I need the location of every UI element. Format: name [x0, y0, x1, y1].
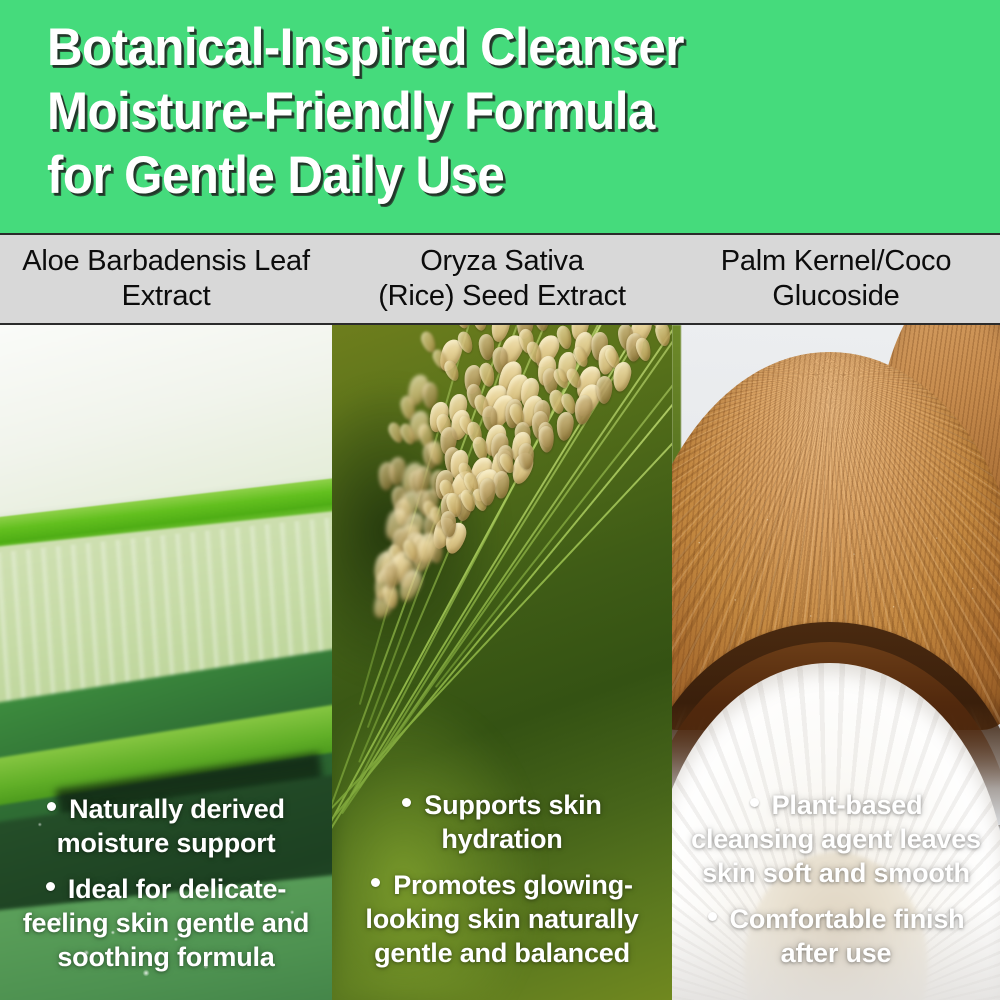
page-title: Botanical-Inspired Cleanser Moisture-Fri…	[47, 16, 903, 208]
bullet-dot-icon	[47, 802, 56, 811]
list-item: Supports skin hydration	[338, 788, 666, 856]
bullet-text: Comfortable finish after use	[730, 904, 965, 968]
column-rice: Supports skin hydration Promotes glowing…	[332, 325, 672, 1000]
bullet-list-aloe: Naturally derived moisture support Ideal…	[0, 792, 332, 986]
bullet-dot-icon	[750, 798, 759, 807]
bullet-text: Promotes glowing-looking skin naturally …	[365, 870, 638, 968]
column-header-band: Aloe Barbadensis Leaf Extract Oryza Sati…	[0, 233, 1000, 325]
list-item: Ideal for delicate-feeling skin gentle a…	[6, 872, 326, 974]
list-item: Comfortable finish after use	[678, 902, 994, 970]
bullet-text: Supports skin hydration	[424, 790, 601, 854]
column-aloe: Naturally derived moisture support Ideal…	[0, 325, 332, 1000]
list-item: Naturally derived moisture support	[6, 792, 326, 860]
ingredient-columns: Naturally derived moisture support Ideal…	[0, 325, 1000, 1000]
bullet-list-coconut: Plant-based cleansing agent leaves skin …	[672, 788, 1000, 982]
bullet-text: Naturally derived moisture support	[57, 794, 285, 858]
column-header-aloe: Aloe Barbadensis Leaf Extract	[0, 235, 332, 323]
list-item: Plant-based cleansing agent leaves skin …	[678, 788, 994, 890]
infographic-page: Botanical-Inspired Cleanser Moisture-Fri…	[0, 0, 1000, 1000]
column-coconut: Plant-based cleansing agent leaves skin …	[672, 325, 1000, 1000]
bullet-text: Plant-based cleansing agent leaves skin …	[691, 790, 981, 888]
bullet-dot-icon	[402, 798, 411, 807]
header-banner: Botanical-Inspired Cleanser Moisture-Fri…	[0, 0, 1000, 233]
bullet-text: Ideal for delicate-feeling skin gentle a…	[23, 874, 309, 972]
column-header-rice: Oryza Sativa (Rice) Seed Extract	[332, 235, 672, 323]
bullet-dot-icon	[371, 878, 380, 887]
list-item: Promotes glowing-looking skin naturally …	[338, 868, 666, 970]
bullet-dot-icon	[46, 882, 55, 891]
bullet-list-rice: Supports skin hydration Promotes glowing…	[332, 788, 672, 982]
bullet-dot-icon	[708, 912, 717, 921]
column-header-coconut: Palm Kernel/Coco Glucoside	[672, 235, 1000, 323]
